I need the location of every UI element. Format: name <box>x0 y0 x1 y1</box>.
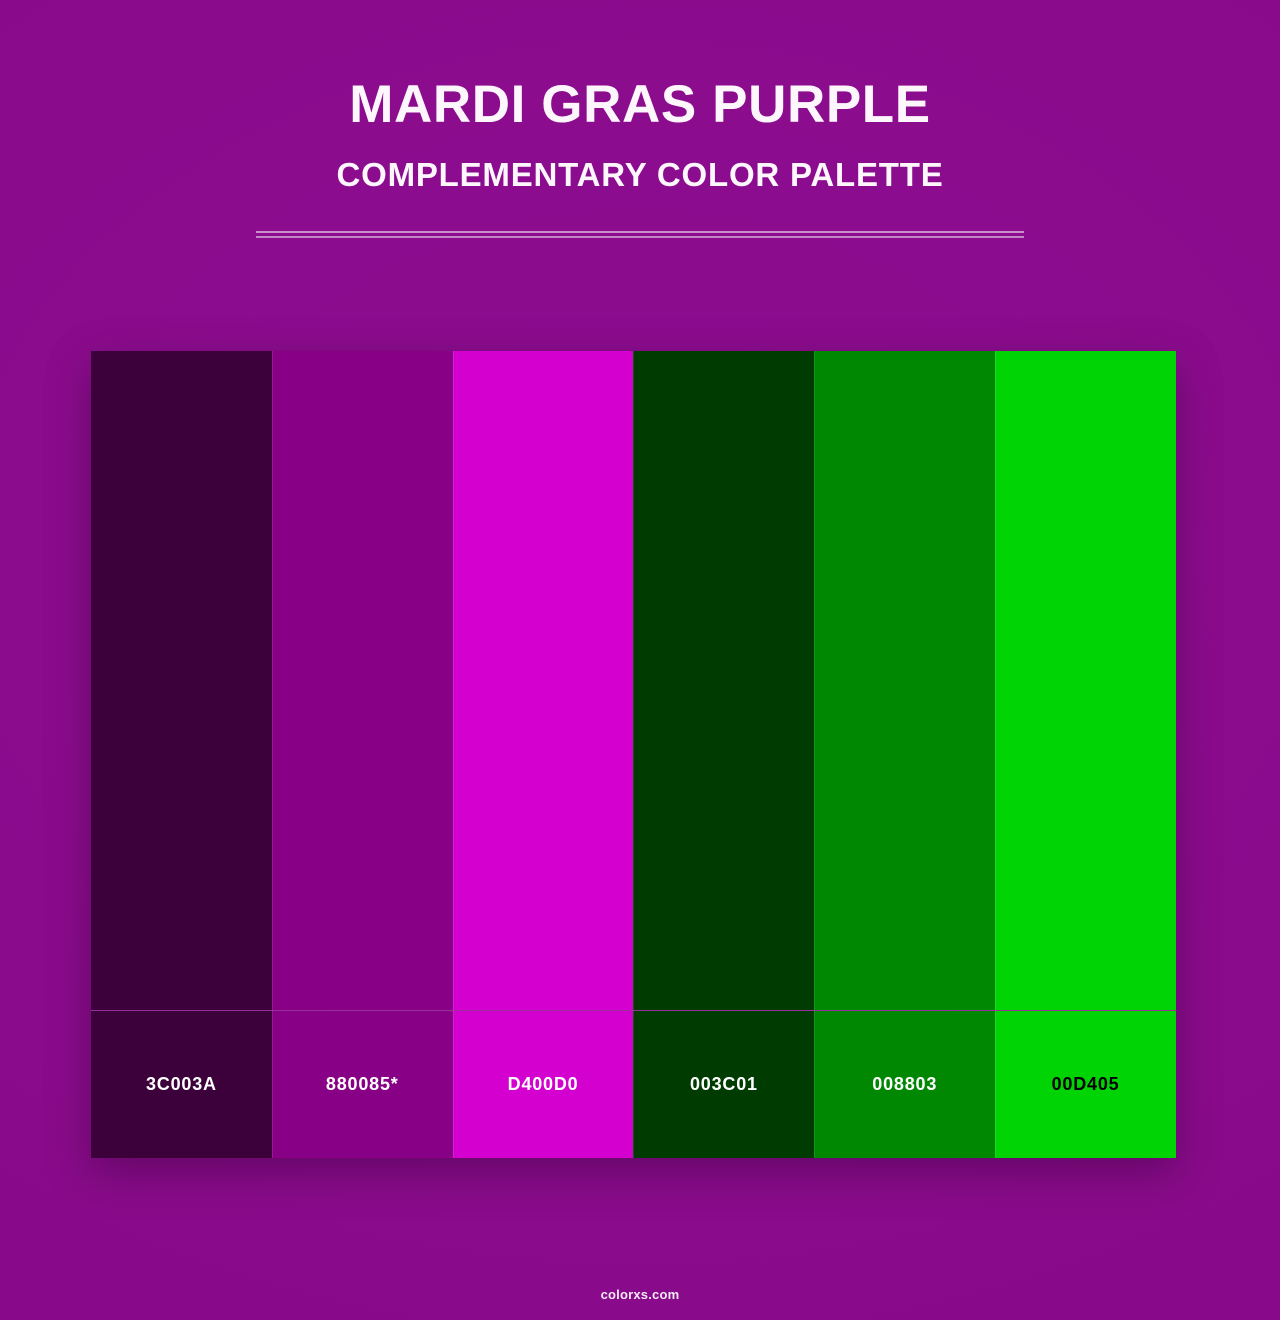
divider-line-top <box>256 231 1024 233</box>
color-swatch-label-cell[interactable]: 880085* <box>272 1011 453 1158</box>
color-swatch-label-cell[interactable]: 008803 <box>814 1011 995 1158</box>
page-subtitle: COMPLEMENTARY COLOR PALETTE <box>0 137 1280 195</box>
color-swatch-block[interactable] <box>633 351 814 1010</box>
color-swatch-label-cell[interactable]: D400D0 <box>453 1011 634 1158</box>
header-divider <box>256 231 1024 238</box>
color-swatch-block[interactable] <box>453 351 634 1010</box>
color-swatch-column[interactable]: 00D405 <box>995 351 1176 1158</box>
page-footer: colorxs.com <box>0 1286 1280 1304</box>
color-swatch-block[interactable] <box>91 351 272 1010</box>
color-hex-label: D400D0 <box>508 1074 579 1095</box>
color-swatch-column[interactable]: 3C003A <box>91 351 272 1158</box>
divider-line-bottom <box>256 236 1024 238</box>
color-swatch-label-cell[interactable]: 3C003A <box>91 1011 272 1158</box>
color-swatch-label-cell[interactable]: 003C01 <box>633 1011 814 1158</box>
color-swatch-block[interactable] <box>995 351 1176 1010</box>
page-title: MARDI GRAS PURPLE <box>0 0 1280 137</box>
color-swatch-column[interactable]: D400D0 <box>453 351 634 1158</box>
color-swatch-grid: 3C003A880085*D400D0003C0100880300D405 <box>91 351 1176 1158</box>
color-hex-label: 003C01 <box>690 1074 758 1095</box>
page-header: MARDI GRAS PURPLE COMPLEMENTARY COLOR PA… <box>0 0 1280 195</box>
color-hex-label: 00D405 <box>1052 1074 1120 1095</box>
color-hex-label: 880085* <box>326 1074 399 1095</box>
color-swatch-block[interactable] <box>272 351 453 1010</box>
color-swatch-column[interactable]: 880085* <box>272 351 453 1158</box>
color-hex-label: 3C003A <box>146 1074 217 1095</box>
color-palette-page: MARDI GRAS PURPLE COMPLEMENTARY COLOR PA… <box>0 0 1280 1320</box>
footer-website-label: colorxs.com <box>601 1287 680 1302</box>
color-hex-label: 008803 <box>872 1074 937 1095</box>
color-swatch-label-cell[interactable]: 00D405 <box>995 1011 1176 1158</box>
color-swatch-column[interactable]: 003C01 <box>633 351 814 1158</box>
color-swatch-block[interactable] <box>814 351 995 1010</box>
color-swatch-column[interactable]: 008803 <box>814 351 995 1158</box>
